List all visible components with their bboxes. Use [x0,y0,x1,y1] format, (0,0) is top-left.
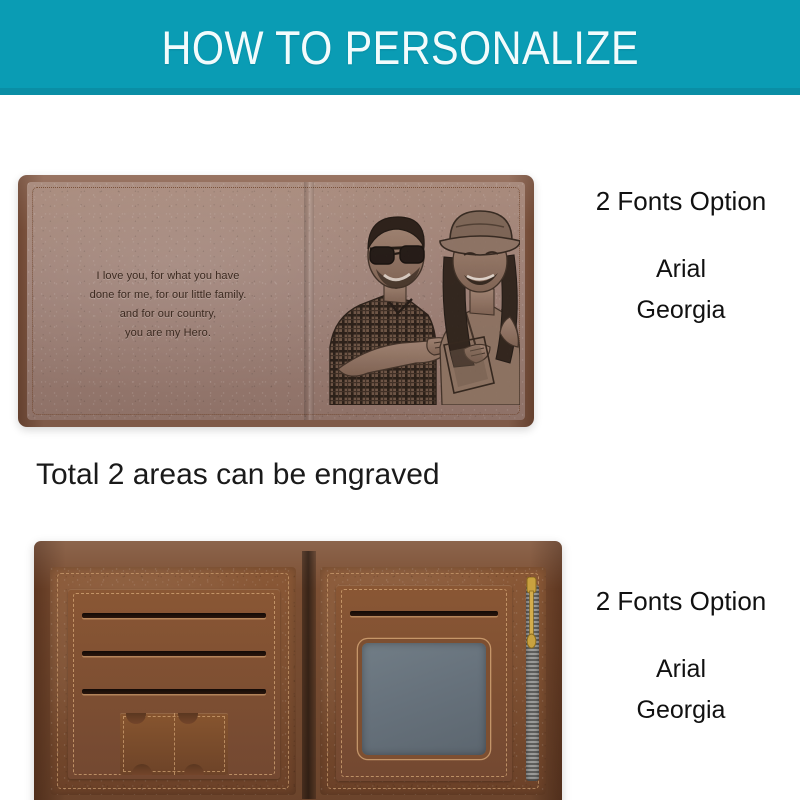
wallet-bottom-interior [34,541,562,800]
font-option-arial-top: Arial [565,255,797,284]
engraved-message-block: I love you, for what you have done for m… [54,267,282,343]
fonts-panel-top: 2 Fonts Option Arial Georgia [565,186,797,325]
card-slot-2[interactable] [82,651,266,656]
page-title: HOW TO PERSONALIZE [161,20,639,75]
font-option-arial-bottom: Arial [565,655,797,684]
engraved-line-3: and for our country, [54,305,282,324]
infographic-page: HOW TO PERSONALIZE I love you, for what … [0,0,800,800]
fonts-heading-top: 2 Fonts Option [565,186,797,217]
thumb-notch-bottom-left [132,764,152,775]
fonts-panel-bottom: 2 Fonts Option Arial Georgia [565,586,797,725]
engrave-areas-caption: Total 2 areas can be engraved [36,458,440,492]
thumb-notch-top-right [178,713,198,724]
wallet-right-panel [320,567,546,795]
font-option-georgia-bottom: Georgia [565,696,797,725]
card-slot-1[interactable] [82,613,266,618]
fonts-heading-bottom: 2 Fonts Option [565,586,797,617]
pocket-center-divider [174,713,175,775]
thumb-notch-bottom-right [184,764,204,775]
engraved-line-4: you are my Hero. [54,324,282,343]
card-slot-block-left [68,589,280,779]
wallet-spine-fold-bottom [302,551,316,799]
card-slot-3[interactable] [82,689,266,694]
engraved-couple-photo [324,197,520,405]
engraved-line-1: I love you, for what you have [54,267,282,286]
card-slot-right-1[interactable] [350,611,498,616]
thumb-notch-top-left [126,713,146,724]
id-photo-window[interactable] [362,643,486,755]
font-option-georgia-top: Georgia [565,296,797,325]
header-banner: HOW TO PERSONALIZE [0,0,800,95]
twin-thumb-notch-pocket[interactable] [120,713,228,775]
card-slot-block-right [336,585,512,781]
wallet-spine-fold-top [304,182,314,420]
wallet-left-panel [50,567,296,795]
zipper-pull-icon[interactable] [524,577,539,655]
wallet-top-engraved: I love you, for what you have done for m… [18,175,534,427]
engraved-line-2: done for me, for our little family. [54,286,282,305]
